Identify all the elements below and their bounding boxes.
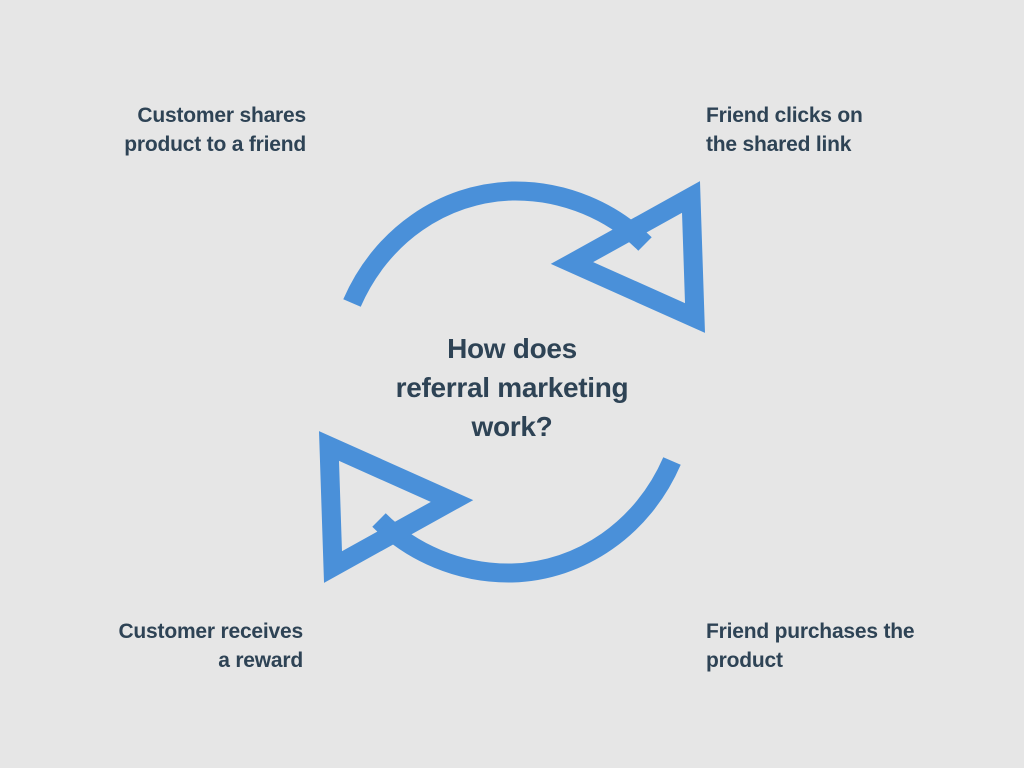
bottom-arrow — [329, 446, 672, 573]
step-label-customer-receives: Customer receives a reward — [23, 617, 303, 675]
step-label-customer-shares: Customer shares product to a friend — [26, 101, 306, 159]
diagram-canvas: Customer shares product to a friend Frie… — [0, 0, 1024, 768]
step-label-friend-clicks: Friend clicks on the shared link — [706, 101, 998, 159]
diagram-title: How does referral marketing work? — [312, 329, 712, 446]
step-label-friend-purchases: Friend purchases the product — [706, 617, 998, 675]
top-arrow — [352, 191, 695, 318]
